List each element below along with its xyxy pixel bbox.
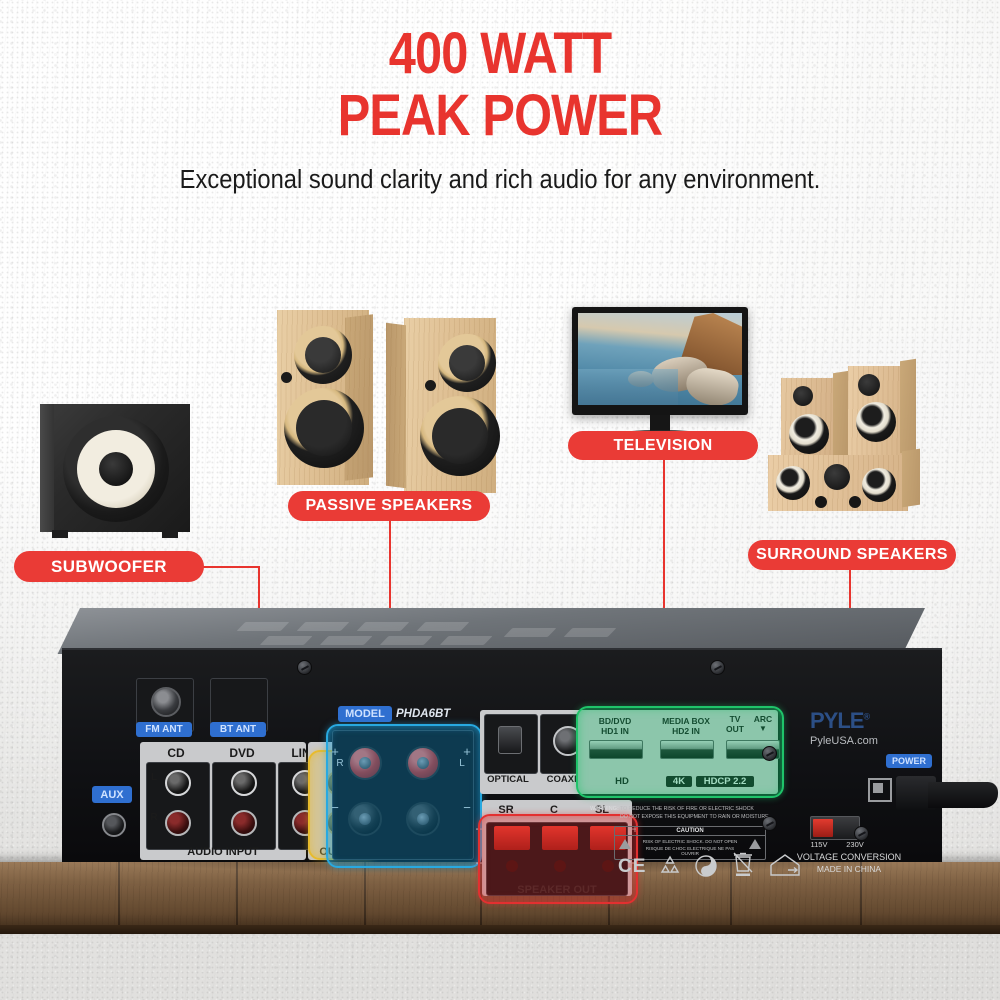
audio-input-channel-l: L bbox=[148, 772, 160, 783]
chassis-screw-center bbox=[710, 660, 725, 675]
voltage-switch-slider[interactable] bbox=[813, 819, 833, 837]
fm-antenna-connector[interactable] bbox=[151, 687, 181, 717]
voltage-conversion-label: VOLTAGE CONVERSION bbox=[788, 852, 910, 862]
highlight-passive-speaker-terminals bbox=[326, 724, 482, 868]
audio-input-section-label: AUDIO INPUT bbox=[140, 846, 306, 858]
callout-passive-speakers-label: PASSIVE SPEAKERS bbox=[305, 497, 472, 515]
callout-subwoofer[interactable]: SUBWOOFER bbox=[14, 551, 204, 582]
made-in-china-label: MADE IN CHINA bbox=[788, 864, 910, 874]
warning-line-2: DO NOT EXPOSE THIS EQUIPMENT TO RAIN OR … bbox=[620, 814, 770, 820]
dvd-jack-right[interactable] bbox=[231, 810, 257, 836]
aux-jack[interactable] bbox=[102, 813, 126, 837]
amplifier-rear-panel: FM ANT BT ANT AUX CD DVD LINE bbox=[62, 608, 942, 870]
power-class-ii-icon bbox=[868, 778, 892, 802]
callout-subwoofer-label: SUBWOOFER bbox=[51, 557, 167, 577]
headline: 400 WATT PEAK POWER bbox=[80, 24, 920, 146]
pyle-logo: PYLE® PyleUSA.com bbox=[810, 708, 920, 747]
leader-subwoofer-horizontal bbox=[197, 566, 259, 568]
caution-line-1: RISK OF ELECTRIC SHOCK. DO NOT OPEN bbox=[637, 839, 743, 844]
ce-mark-icon: CE bbox=[618, 856, 646, 878]
cd-jack-left[interactable] bbox=[165, 770, 191, 796]
power-plate-screw bbox=[854, 826, 869, 841]
headline-line-1: 400 WATT bbox=[389, 21, 611, 86]
voltage-label-230v: 230V bbox=[838, 840, 872, 849]
cd-label: CD bbox=[144, 746, 208, 760]
warning-triangle-left-icon bbox=[619, 839, 631, 849]
product-infographic: 400 WATT PEAK POWER Exceptional sound cl… bbox=[0, 0, 1000, 1000]
voltage-label-115v: 115V bbox=[802, 840, 836, 849]
weee-bin-icon bbox=[730, 850, 756, 878]
chassis-screw-left bbox=[297, 660, 312, 675]
callout-surround-speakers-label: SURROUND SPEAKERS bbox=[756, 546, 948, 564]
model-tag-label: MODEL bbox=[338, 706, 392, 722]
optical-jack[interactable] bbox=[498, 726, 522, 754]
pyle-website: PyleUSA.com bbox=[810, 735, 920, 747]
caution-title: CAUTION bbox=[615, 828, 765, 836]
warning-block: WARNING: TO REDUCE THE RISK OF FIRE OR E… bbox=[590, 806, 790, 862]
warning-line-1: TO REDUCE THE RISK OF FIRE OR ELECTRIC S… bbox=[620, 806, 754, 812]
fm-antenna-tag: FM ANT bbox=[136, 722, 192, 737]
bt-antenna-tag: BT ANT bbox=[210, 722, 266, 737]
recycling-icon bbox=[658, 854, 682, 878]
optical-label: OPTICAL bbox=[480, 774, 536, 785]
subtitle: Exceptional sound clarity and rich audio… bbox=[35, 166, 965, 195]
highlight-hdmi-section bbox=[576, 706, 784, 798]
audio-input-channel-r: R bbox=[148, 812, 160, 823]
power-tag: POWER bbox=[886, 754, 932, 768]
china-rohs-icon bbox=[694, 854, 718, 878]
voltage-switch[interactable] bbox=[810, 816, 860, 840]
pyle-registered-mark: ® bbox=[863, 712, 869, 722]
callout-television[interactable]: TELEVISION bbox=[568, 431, 758, 460]
aux-tag: AUX bbox=[92, 786, 132, 803]
amplifier-body: FM ANT BT ANT AUX CD DVD LINE bbox=[62, 648, 942, 862]
caution-line-2: RISQUE DE CHOC ELECTRIQUE NE PAS OUVRIR bbox=[637, 846, 743, 856]
callout-surround-speakers[interactable]: SURROUND SPEAKERS bbox=[748, 540, 956, 570]
headline-line-2: PEAK POWER bbox=[80, 86, 920, 146]
model-number: PHDA6BT bbox=[396, 706, 482, 722]
warning-triangle-right-icon bbox=[749, 839, 761, 849]
cd-jack-right[interactable] bbox=[165, 810, 191, 836]
callout-television-label: TELEVISION bbox=[613, 437, 712, 455]
hdmi-plate-screw bbox=[762, 746, 777, 761]
warning-title: WARNING: bbox=[590, 806, 619, 812]
callout-passive-speakers[interactable]: PASSIVE SPEAKERS bbox=[288, 491, 490, 521]
table-front-edge bbox=[0, 925, 1000, 934]
dvd-label: DVD bbox=[210, 746, 274, 760]
pyle-brand-text: PYLE bbox=[810, 708, 863, 733]
dvd-jack-left[interactable] bbox=[231, 770, 257, 796]
power-cable bbox=[928, 782, 998, 808]
voltage-plate-screw bbox=[762, 816, 777, 831]
